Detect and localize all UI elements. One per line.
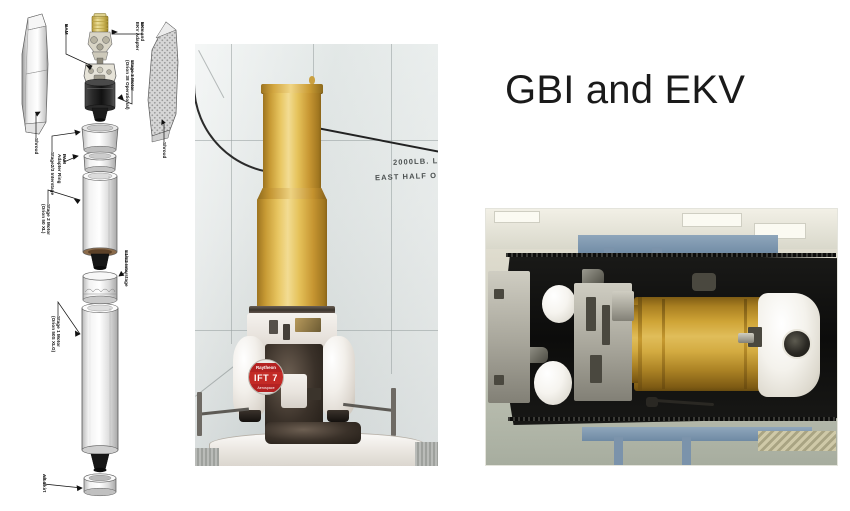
plumbing-bracket: [586, 297, 596, 331]
tank-cap-left: [239, 410, 261, 422]
fixture-bolt: [494, 289, 504, 299]
diagram-ekv-adapter-part: [88, 32, 112, 64]
gold-canister-lower: [257, 199, 327, 307]
floor-grating: [415, 442, 438, 466]
diagram-label-stage-3-motor: Stage 3 Motor (Orion 38 Operational): [125, 60, 135, 110]
diagram-label-shroud-left: Shroud: [34, 138, 39, 154]
lift-knob: [309, 76, 315, 84]
diagram-label-pam-adapter-ring: PAM Adapter Ring: [57, 154, 67, 183]
slide-canvas: EKV and EKV Adapter BAM Stage 3 Motor (O…: [0, 0, 850, 511]
bus-fitting: [283, 324, 290, 340]
sticker-mission: IFT 7: [249, 372, 283, 384]
ekv-horizontal-photo: [485, 208, 838, 466]
diagram-shroud-left-part: [22, 14, 48, 134]
ekv-vertical-photo: 2000LB. L EAST HALF O Raytheon IFT 7 Aer…: [195, 44, 438, 466]
avionics-housing: [612, 291, 634, 321]
diagram-stage2-motor-part: [83, 172, 117, 270]
blue-support-leg: [682, 437, 691, 465]
ekv-gold-ring-fwd: [638, 297, 642, 391]
diagram-stage1-motor-part: [82, 303, 118, 472]
plumbing-bracket: [590, 355, 602, 383]
center-fitting: [307, 388, 321, 400]
diagram-aft-skirt-part: [84, 474, 116, 496]
ekv-gold-ring-aft: [744, 299, 747, 389]
gbi-exploded-view-diagram: EKV and EKV Adapter BAM Stage 3 Motor (O…: [6, 4, 186, 504]
divert-tank-lower: [534, 361, 572, 405]
bus-window: [295, 318, 321, 332]
ekv-gold-ring-mid: [662, 299, 665, 389]
fairing-clamp: [738, 333, 754, 343]
support-post-left: [197, 392, 202, 436]
diagram-label-shroud-right: Shroud: [162, 142, 167, 158]
diagram-label-stage-2-motor: Stage 2 Motor (Orion 50 XL): [41, 204, 51, 235]
fixture-bolt: [494, 375, 504, 385]
diagram-label-stage-1-motor: Stage 1 Motor (Orion 50S XLG): [51, 316, 61, 352]
gold-canister-body: [263, 93, 321, 189]
diagram-ekv-part: [92, 14, 108, 33]
ift-7-mission-sticker: Raytheon IFT 7 Aerospace: [248, 359, 284, 395]
floor-grating: [195, 448, 219, 466]
ceiling-light: [682, 213, 742, 227]
sensor-aperture: [782, 329, 812, 359]
base-hardware: [265, 422, 361, 444]
wall-stencil-line-1: 2000LB. L: [393, 156, 438, 167]
harness-connector: [646, 397, 658, 407]
support-post-right: [391, 388, 396, 436]
fairing-edge-fasteners-bottom: [508, 417, 836, 421]
diagram-pam-adapter-ring-part: [84, 152, 116, 174]
diagram-stage3-motor-part: [85, 79, 115, 122]
floor-grating-panel: [758, 431, 836, 451]
connector-block: [692, 273, 716, 291]
page-title: GBI and EKV: [505, 68, 825, 113]
sticker-brand: Raytheon: [249, 363, 283, 372]
plumbing-bracket: [602, 305, 610, 345]
blue-support-leg: [614, 437, 623, 465]
diagram-s1s2-interstage-part: [83, 272, 117, 304]
diagram-label-bam: BAM: [64, 24, 69, 35]
ceiling-light: [494, 211, 540, 223]
sticker-subtitle: Aerospace: [249, 384, 283, 392]
diagram-label-aft-skirt: Aft Skirt: [42, 474, 47, 492]
tank-cap-right: [327, 410, 349, 422]
fairing-edge-fasteners-top: [506, 253, 836, 257]
diagram-label-ekv-and-ekv-adapter: EKV and EKV Adapter: [135, 22, 145, 50]
bus-fitting: [269, 320, 278, 334]
divert-tank-upper: [542, 285, 576, 323]
diagram-label-s1-s2-interstage: S1/S2 Interstage: [124, 250, 129, 287]
center-white-module: [281, 374, 307, 408]
diagram-stage23-interstage-part: [82, 124, 118, 154]
wall-seam: [391, 44, 392, 374]
diagram-label-stage-2-3-interstage: Stage2/3 Interstage: [50, 152, 55, 195]
